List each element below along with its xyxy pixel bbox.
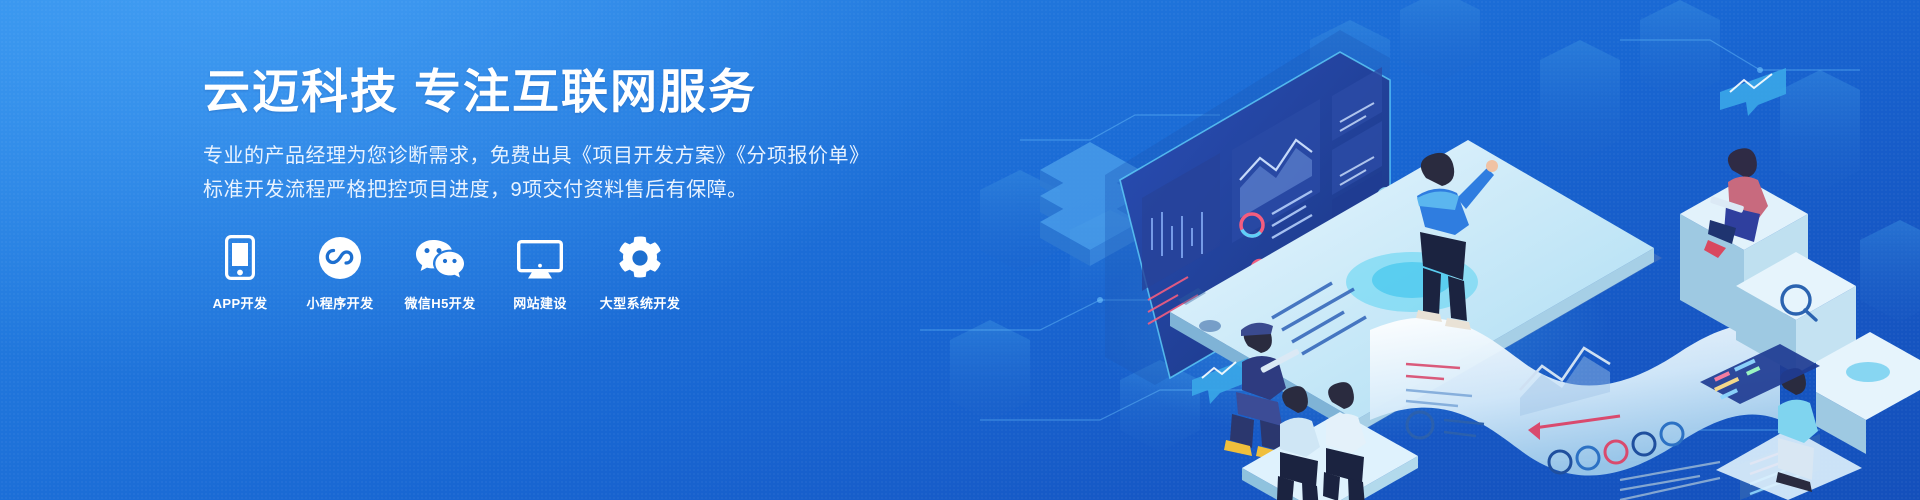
mini-program-icon bbox=[318, 232, 362, 280]
service-list: APP开发 小程序开发 微信 bbox=[203, 232, 677, 312]
service-label: 小程序开发 bbox=[306, 293, 373, 312]
service-label: 网站建设 bbox=[513, 293, 567, 312]
service-item-mini-program[interactable]: 小程序开发 bbox=[303, 232, 377, 312]
mobile-phone-icon bbox=[225, 232, 255, 280]
subtitle-line-1: 专业的产品经理为您诊断需求，免费出具《项目开发方案》《分项报价单》 bbox=[203, 139, 903, 173]
service-item-app[interactable]: APP开发 bbox=[203, 232, 277, 312]
floating-card-top-right bbox=[1720, 68, 1786, 116]
banner-copy: 云迈科技 专注互联网服务 专业的产品经理为您诊断需求，免费出具《项目开发方案》《… bbox=[203, 66, 903, 207]
service-label: APP开发 bbox=[213, 293, 268, 312]
service-item-large-system[interactable]: 大型系统开发 bbox=[603, 232, 677, 312]
service-item-wechat-h5[interactable]: 微信H5开发 bbox=[403, 232, 477, 312]
service-item-website[interactable]: 网站建设 bbox=[503, 232, 577, 312]
service-label: 大型系统开发 bbox=[600, 293, 680, 312]
service-label: 微信H5开发 bbox=[404, 293, 475, 312]
promo-banner: 云迈科技 专注互联网服务 专业的产品经理为您诊断需求，免费出具《项目开发方案》《… bbox=[0, 0, 1920, 500]
page-title: 云迈科技 专注互联网服务 bbox=[203, 66, 903, 119]
wechat-icon bbox=[414, 232, 466, 280]
isometric-tech-illustration bbox=[920, 0, 1920, 500]
gear-icon bbox=[618, 232, 662, 280]
desktop-monitor-icon bbox=[517, 232, 563, 280]
subtitle-line-2: 标准开发流程严格把控项目进度，9项交付资料售后有保障。 bbox=[203, 173, 903, 207]
